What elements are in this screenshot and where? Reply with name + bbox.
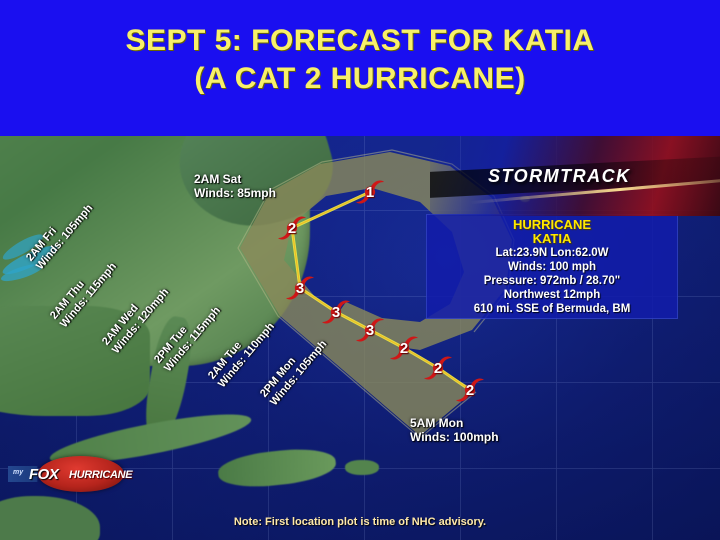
marker-category-label: 3	[353, 313, 387, 347]
info-motion: Northwest 12mph	[426, 288, 678, 302]
forecast-label-mon-5am: 5AM Mon Winds: 100mph	[410, 416, 499, 444]
marker-category-label: 2	[453, 373, 487, 407]
info-title-name: KATIA	[426, 232, 678, 246]
label-time: 2AM Sat	[194, 172, 276, 186]
logo-suffix: HURRICANE	[69, 469, 132, 481]
label-winds: Winds: 85mph	[194, 186, 276, 200]
marker-category-label: 2	[275, 211, 309, 245]
hurricane-marker-icon[interactable]: 1	[353, 175, 387, 209]
info-title-hurricane: HURRICANE	[426, 218, 678, 232]
hurricane-marker-icon[interactable]: 3	[319, 295, 353, 329]
info-pressure: Pressure: 972mb / 28.70"	[426, 274, 678, 288]
stormtrack-banner: STORMTRACK	[430, 136, 720, 216]
logo-prefix: my	[13, 469, 23, 476]
hurricane-marker-icon[interactable]: 3	[283, 271, 317, 305]
marker-category-label: 2	[387, 331, 421, 365]
hurricane-marker-icon[interactable]: 3	[353, 313, 387, 347]
storm-info-panel: HURRICANE KATIA Lat:23.9N Lon:62.0W Wind…	[426, 214, 678, 319]
header-line-1: SEPT 5: FORECAST FOR KATIA	[0, 22, 720, 60]
header-text: SEPT 5: FORECAST FOR KATIA (A CAT 2 HURR…	[0, 22, 720, 98]
marker-category-label: 2	[421, 351, 455, 385]
marker-category-label: 3	[283, 271, 317, 305]
marker-category-label: 3	[319, 295, 353, 329]
title-header: SEPT 5: FORECAST FOR KATIA (A CAT 2 HURR…	[0, 0, 720, 136]
fox-hurricane-logo: my FOX HURRICANE	[8, 456, 138, 492]
label-winds: Winds: 100mph	[410, 430, 499, 444]
stormtrack-label: STORMTRACK	[488, 166, 631, 187]
marker-category-label: 1	[353, 175, 387, 209]
label-time: 5AM Mon	[410, 416, 499, 430]
slide-root: SEPT 5: FORECAST FOR KATIA (A CAT 2 HURR…	[0, 0, 720, 540]
info-distance: 610 mi. SSE of Bermuda, BM	[426, 302, 678, 316]
header-line-2: (A CAT 2 HURRICANE)	[0, 60, 720, 98]
advisory-note: Note: First location plot is time of NHC…	[0, 516, 720, 528]
forecast-label-sat: 2AM Sat Winds: 85mph	[194, 172, 276, 200]
logo-brand: FOX	[29, 466, 58, 483]
hurricane-marker-icon[interactable]: 2	[421, 351, 455, 385]
info-winds: Winds: 100 mph	[426, 260, 678, 274]
weather-map: 1 2 3 3	[0, 136, 720, 540]
hurricane-marker-icon[interactable]: 2	[387, 331, 421, 365]
info-lat-lon: Lat:23.9N Lon:62.0W	[426, 246, 678, 260]
hurricane-marker-icon[interactable]: 2	[275, 211, 309, 245]
hurricane-marker-icon[interactable]: 2	[453, 373, 487, 407]
